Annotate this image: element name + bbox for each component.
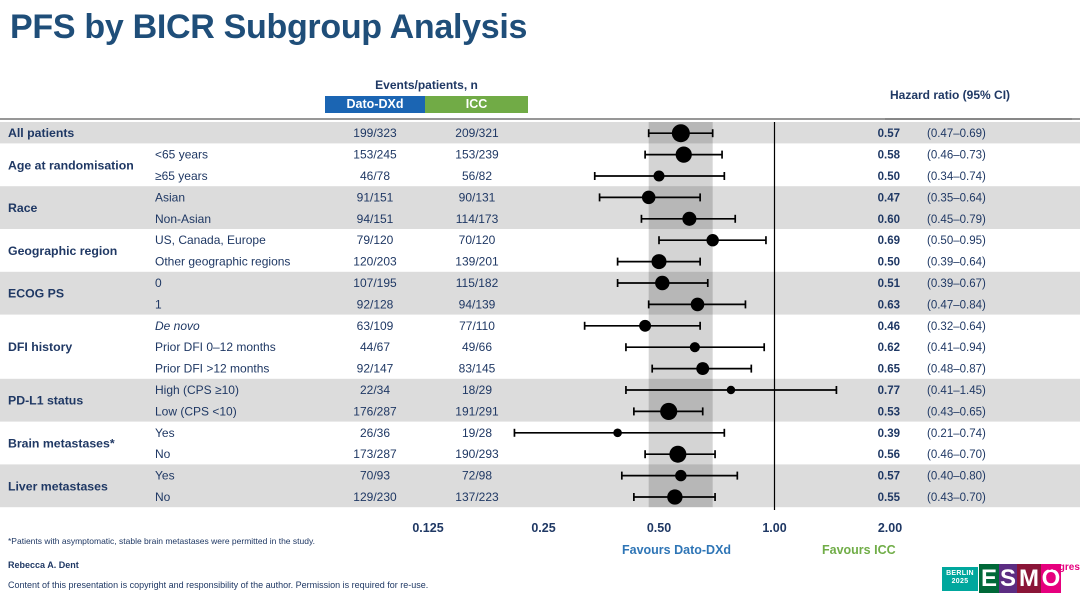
events-icc-value: 49/66 xyxy=(462,340,492,354)
events-dato-value: 94/151 xyxy=(357,212,394,226)
events-icc-value: 19/28 xyxy=(462,426,492,440)
forest-plot-svg: All patients199/323209/3210.57(0.47–0.69… xyxy=(0,70,1080,510)
point-estimate-marker xyxy=(613,428,622,437)
subgroup-level-label: Other geographic regions xyxy=(155,255,290,269)
hazard-ratio-ci: (0.41–0.94) xyxy=(927,342,986,354)
hazard-ratio-value: 0.58 xyxy=(878,150,901,162)
events-dato-value: 26/36 xyxy=(360,426,390,440)
events-icc-value: 137/223 xyxy=(455,490,499,504)
favours-icc-label: Favours ICC xyxy=(822,543,896,557)
hazard-ratio-ci: (0.46–0.73) xyxy=(927,150,986,162)
logo-congress-word: congress xyxy=(1041,562,1080,573)
hazard-ratio-value: 0.60 xyxy=(878,214,900,226)
hazard-ratio-value: 0.69 xyxy=(878,235,900,247)
events-icc-value: 191/291 xyxy=(455,404,499,418)
subgroup-level-label: De novo xyxy=(155,319,200,333)
x-axis-tick-label: 0.50 xyxy=(647,521,671,535)
esmo-congress-logo: BERLIN 2025 E S M O congress xyxy=(942,562,1072,596)
subgroup-label: PD-L1 status xyxy=(8,394,83,408)
footnote-author: Rebecca A. Dent xyxy=(8,560,79,570)
subgroup-level-label: 0 xyxy=(155,276,162,290)
events-icc-value: 115/182 xyxy=(456,276,499,290)
hazard-ratio-ci: (0.47–0.69) xyxy=(927,128,986,140)
events-dato-value: 44/67 xyxy=(360,340,390,354)
events-dato-value: 22/34 xyxy=(360,383,390,397)
hazard-ratio-ci: (0.41–1.45) xyxy=(927,385,986,397)
x-axis-tick-label: 2.00 xyxy=(878,521,902,535)
subgroup-label: ECOG PS xyxy=(8,287,64,301)
events-dato-value: 63/109 xyxy=(357,319,394,333)
hazard-ratio-ci: (0.48–0.87) xyxy=(927,364,986,376)
subgroup-level-label: Yes xyxy=(155,426,175,440)
events-icc-value: 83/145 xyxy=(459,362,496,376)
hazard-ratio-ci: (0.46–0.70) xyxy=(927,449,986,461)
point-estimate-marker xyxy=(727,386,735,394)
events-icc-value: 114/173 xyxy=(456,212,499,226)
slide-root: PFS by BICR Subgroup Analysis Events/pat… xyxy=(0,0,1080,604)
subgroup-label: DFI history xyxy=(8,340,72,354)
footnote-asterisk: *Patients with asymptomatic, stable brai… xyxy=(8,536,315,546)
events-icc-value: 190/293 xyxy=(455,447,499,461)
subgroup-level-label: 1 xyxy=(155,297,162,311)
hazard-ratio-ci: (0.21–0.74) xyxy=(927,428,986,440)
hazard-ratio-value: 0.51 xyxy=(878,278,901,290)
events-dato-value: 199/323 xyxy=(353,126,397,140)
events-icc-value: 153/239 xyxy=(455,148,499,162)
point-estimate-marker xyxy=(667,489,682,504)
hazard-ratio-ci: (0.50–0.95) xyxy=(927,235,986,247)
events-dato-value: 107/195 xyxy=(353,276,397,290)
events-icc-value: 209/321 xyxy=(455,126,499,140)
hazard-ratio-ci: (0.34–0.74) xyxy=(927,171,986,183)
hazard-ratio-value: 0.50 xyxy=(878,257,900,269)
logo-letter-s: S xyxy=(999,564,1017,593)
subgroup-label: Brain metastases* xyxy=(8,437,115,451)
events-dato-value: 129/230 xyxy=(353,490,397,504)
point-estimate-marker xyxy=(696,362,709,375)
events-dato-value: 173/287 xyxy=(353,447,397,461)
hazard-ratio-value: 0.56 xyxy=(878,449,900,461)
subgroup-level-label: Non-Asian xyxy=(155,212,211,226)
events-icc-value: 94/139 xyxy=(459,297,496,311)
subgroup-label: Geographic region xyxy=(8,244,117,258)
subgroup-label: Age at randomisation xyxy=(8,158,134,172)
point-estimate-marker xyxy=(690,342,700,352)
subgroup-level-label: ≥65 years xyxy=(155,169,208,183)
favours-dato-label: Favours Dato-DXd xyxy=(622,543,731,557)
x-axis-tick-label: 0.25 xyxy=(531,521,555,535)
events-dato-value: 70/93 xyxy=(360,469,390,483)
logo-letter-e: E xyxy=(979,564,999,593)
hazard-ratio-ci: (0.40–0.80) xyxy=(927,471,986,483)
point-estimate-marker xyxy=(669,446,686,463)
point-estimate-marker xyxy=(676,146,692,162)
point-estimate-marker xyxy=(691,298,705,312)
events-dato-value: 91/151 xyxy=(357,190,394,204)
events-dato-value: 153/245 xyxy=(353,148,397,162)
logo-year: 2025 xyxy=(952,578,969,585)
events-icc-value: 56/82 xyxy=(462,169,492,183)
hazard-ratio-value: 0.57 xyxy=(878,128,900,140)
logo-city-badge: BERLIN 2025 xyxy=(942,567,978,591)
hazard-ratio-value: 0.46 xyxy=(878,321,900,333)
events-icc-value: 90/131 xyxy=(459,190,496,204)
point-estimate-marker xyxy=(651,254,666,269)
row-band xyxy=(0,122,1080,143)
events-dato-value: 120/203 xyxy=(353,255,397,269)
point-estimate-marker xyxy=(675,470,686,481)
hazard-ratio-value: 0.50 xyxy=(878,171,900,183)
logo-letter-m: M xyxy=(1017,564,1041,593)
subgroup-level-label: Low (CPS <10) xyxy=(155,404,237,418)
hazard-ratio-value: 0.77 xyxy=(878,385,900,397)
events-dato-value: 92/147 xyxy=(357,362,394,376)
events-dato-value: 79/120 xyxy=(357,233,394,247)
point-estimate-marker xyxy=(639,320,651,332)
point-estimate-marker xyxy=(654,171,665,182)
subgroup-label: Liver metastases xyxy=(8,479,108,493)
point-estimate-marker xyxy=(660,403,677,420)
point-estimate-marker xyxy=(642,191,655,204)
subgroup-level-label: Asian xyxy=(155,190,185,204)
events-dato-value: 176/287 xyxy=(353,404,397,418)
subgroup-level-label: Prior DFI 0–12 months xyxy=(155,340,276,354)
events-dato-value: 92/128 xyxy=(357,297,394,311)
hazard-ratio-ci: (0.39–0.64) xyxy=(927,257,986,269)
hazard-ratio-value: 0.53 xyxy=(878,406,900,418)
hazard-ratio-ci: (0.47–0.84) xyxy=(927,299,986,311)
hazard-ratio-ci: (0.43–0.70) xyxy=(927,492,986,504)
hazard-ratio-value: 0.55 xyxy=(878,492,901,504)
hazard-ratio-value: 0.63 xyxy=(878,299,900,311)
hazard-ratio-value: 0.47 xyxy=(878,192,900,204)
point-estimate-marker xyxy=(672,124,690,142)
events-icc-value: 139/201 xyxy=(455,255,499,269)
x-axis-tick-label: 1.00 xyxy=(762,521,786,535)
subgroup-level-label: <65 years xyxy=(155,148,208,162)
footnote-copyright: Content of this presentation is copyrigh… xyxy=(8,580,428,590)
subgroup-level-label: High (CPS ≥10) xyxy=(155,383,239,397)
subgroup-level-label: No xyxy=(155,490,171,504)
events-dato-value: 46/78 xyxy=(360,169,390,183)
point-estimate-marker xyxy=(682,212,696,226)
point-estimate-marker xyxy=(655,276,669,290)
hazard-ratio-ci: (0.39–0.67) xyxy=(927,278,986,290)
events-icc-value: 70/120 xyxy=(459,233,496,247)
row-band xyxy=(0,272,1080,315)
subgroup-label: All patients xyxy=(8,126,74,140)
forest-plot-figure: Events/patients, n Dato-DXd ICC Hazard r… xyxy=(0,70,1080,510)
hazard-ratio-value: 0.39 xyxy=(878,428,900,440)
hazard-ratio-value: 0.62 xyxy=(878,342,900,354)
hazard-ratio-value: 0.57 xyxy=(878,471,900,483)
subgroup-level-label: No xyxy=(155,447,171,461)
subgroup-level-label: US, Canada, Europe xyxy=(155,233,266,247)
x-axis-tick-label: 0.125 xyxy=(412,521,443,535)
events-icc-value: 77/110 xyxy=(459,319,495,333)
hazard-ratio-value: 0.65 xyxy=(878,364,901,376)
hazard-ratio-ci: (0.43–0.65) xyxy=(927,406,986,418)
events-icc-value: 72/98 xyxy=(462,469,492,483)
hazard-ratio-ci: (0.45–0.79) xyxy=(927,214,986,226)
subgroup-level-label: Yes xyxy=(155,469,175,483)
logo-city: BERLIN xyxy=(946,570,974,577)
subgroup-label: Race xyxy=(8,201,38,215)
hazard-ratio-ci: (0.35–0.64) xyxy=(927,192,986,204)
events-icc-value: 18/29 xyxy=(462,383,492,397)
subgroup-level-label: Prior DFI >12 months xyxy=(155,362,269,376)
point-estimate-marker xyxy=(706,234,718,246)
hazard-ratio-ci: (0.32–0.64) xyxy=(927,321,986,333)
page-title: PFS by BICR Subgroup Analysis xyxy=(10,8,527,47)
